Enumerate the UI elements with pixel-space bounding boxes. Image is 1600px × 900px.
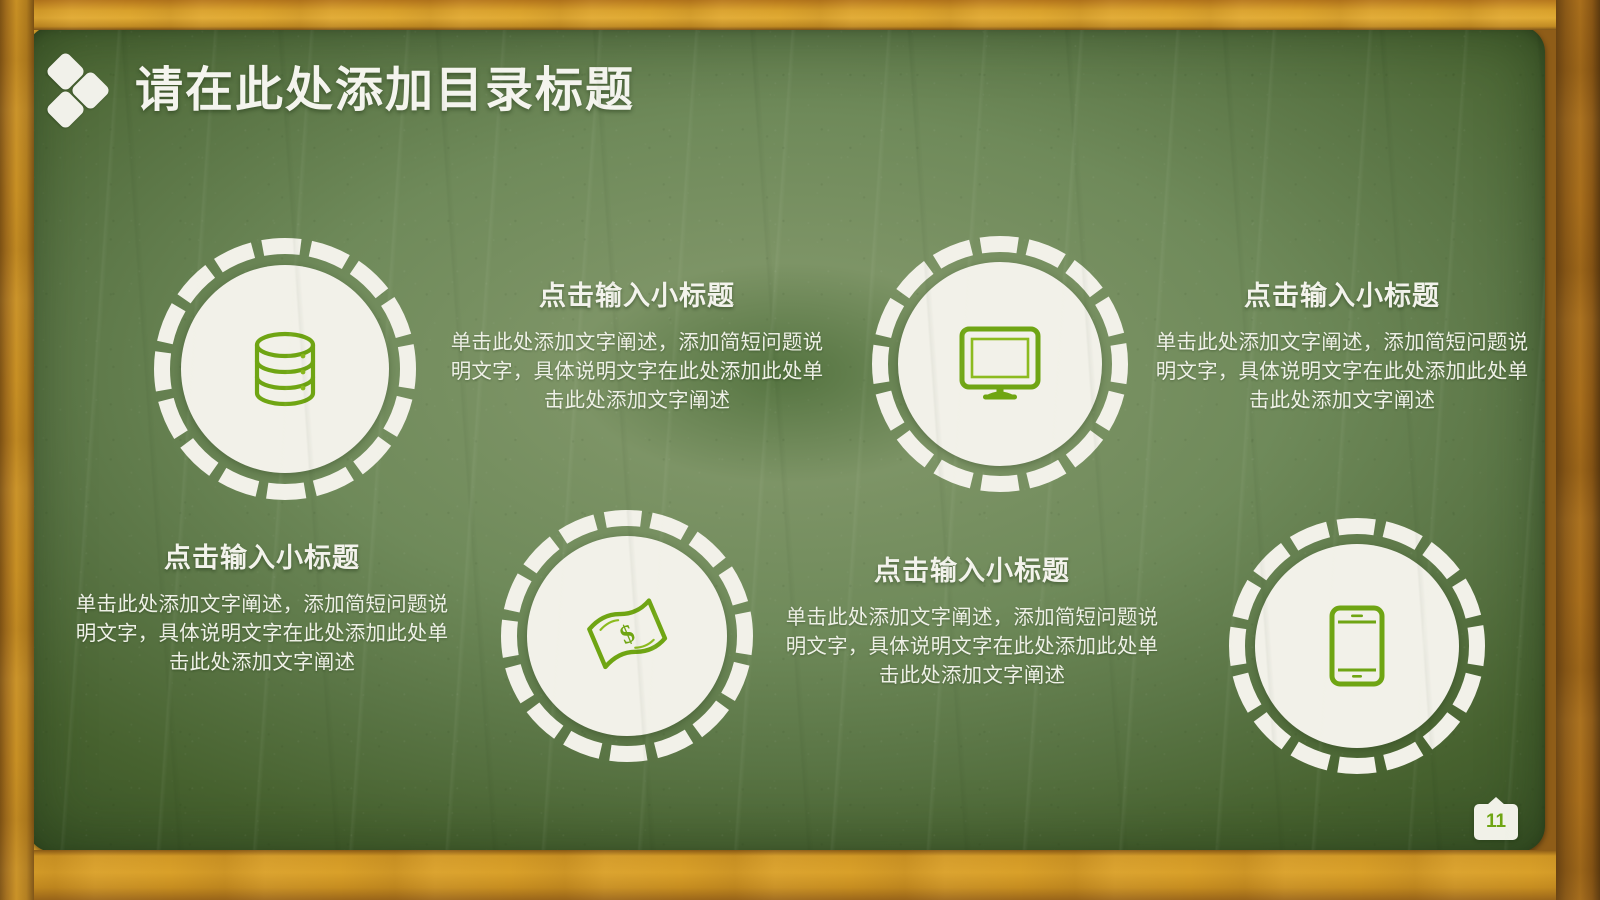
icon-circle-money[interactable]: $ (498, 507, 756, 765)
chalkboard: 请在此处添加目录标题 (27, 26, 1545, 852)
item-body-2: 单击此处添加文字阐述，添加简短问题说明文字，具体说明文字在此处添加此处单击此处添… (1152, 328, 1532, 416)
money-icon: $ (585, 595, 669, 677)
page-title: 请在此处添加目录标题 (135, 67, 635, 115)
diamond-cluster-icon (49, 54, 111, 128)
frame-right (1556, 0, 1600, 900)
item-text-block-4: 点击输入小标题 单击此处添加文字阐述，添加简短问题说明文字，具体说明文字在此处添… (782, 557, 1162, 691)
icon-disc (1255, 544, 1459, 748)
database-icon (248, 330, 322, 408)
svg-text:$: $ (616, 618, 639, 650)
item-heading-1: 点击输入小标题 (442, 282, 832, 312)
item-text-block-3: 点击输入小标题 单击此处添加文字阐述，添加简短问题说明文字，具体说明文字在此处添… (67, 544, 457, 678)
monitor-icon (959, 326, 1041, 402)
icon-disc (898, 262, 1102, 466)
frame-bottom (0, 850, 1600, 900)
item-heading-3: 点击输入小标题 (67, 544, 457, 574)
item-heading-2: 点击输入小标题 (1152, 282, 1532, 312)
page-title-row: 请在此处添加目录标题 (49, 54, 635, 128)
icon-disc (181, 265, 389, 473)
icon-circle-database[interactable] (151, 235, 419, 503)
item-body-1: 单击此处添加文字阐述，添加简短问题说明文字，具体说明文字在此处添加此处单击此处添… (442, 328, 832, 416)
item-body-4: 单击此处添加文字阐述，添加简短问题说明文字，具体说明文字在此处添加此处单击此处添… (782, 603, 1162, 691)
board-content: 请在此处添加目录标题 (27, 26, 1545, 852)
smartphone-icon (1329, 605, 1385, 687)
item-body-3: 单击此处添加文字阐述，添加简短问题说明文字，具体说明文字在此处添加此处单击此处添… (67, 590, 457, 678)
item-text-block-2: 点击输入小标题 单击此处添加文字阐述，添加简短问题说明文字，具体说明文字在此处添… (1152, 282, 1532, 416)
item-text-block-1: 点击输入小标题 单击此处添加文字阐述，添加简短问题说明文字，具体说明文字在此处添… (442, 282, 832, 416)
page-number-badge: 11 (1474, 804, 1518, 840)
slide-canvas: 请在此处添加目录标题 (0, 0, 1600, 900)
page-number-value: 11 (1486, 811, 1506, 833)
icon-circle-smartphone[interactable] (1226, 515, 1488, 777)
item-heading-4: 点击输入小标题 (782, 557, 1162, 587)
icon-disc: $ (527, 536, 727, 736)
icon-circle-monitor[interactable] (869, 233, 1131, 495)
